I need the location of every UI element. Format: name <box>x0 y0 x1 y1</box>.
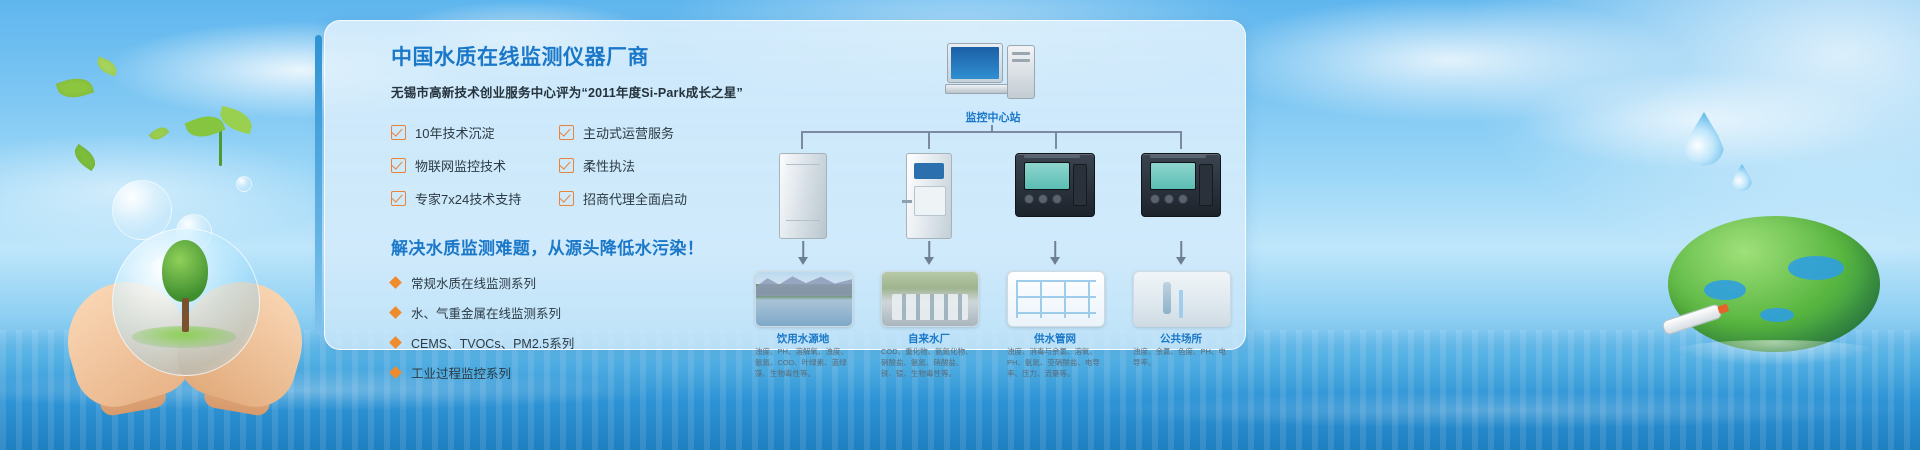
diagram-connector <box>928 131 930 149</box>
checklist-label: 10年技术沉淀 <box>415 123 494 142</box>
device-cabinet-icon <box>755 153 851 239</box>
scene-title: 公共场所 <box>1133 331 1229 346</box>
list-item-label: 水、气重金属在线监测系列 <box>411 303 561 322</box>
down-arrow-icon <box>881 241 977 267</box>
scene-title: 自来水厂 <box>881 331 977 346</box>
checkbox-icon <box>559 191 574 206</box>
checkbox-icon <box>559 158 574 173</box>
product-series-list: 常规水质在线监测系列 水、气重金属在线监测系列 CEMS、TVOCs、PM2.5… <box>391 273 741 382</box>
checklist-item: 物联网监控技术 <box>391 156 553 175</box>
monitoring-topology-diagram: 监控中心站 <box>755 35 1225 335</box>
scene-thumbnail <box>755 271 853 327</box>
checkbox-icon <box>391 158 406 173</box>
diamond-bullet-icon <box>389 366 402 379</box>
hands-holding-tree-illustration <box>60 222 310 402</box>
banner-stage: 中国水质在线监测仪器厂商 无锡市高新技术创业服务中心评为“2011年度Si-Pa… <box>0 0 1920 450</box>
checklist-item: 主动式运营服务 <box>559 123 741 142</box>
page-subtitle: 无锡市高新技术创业服务中心评为“2011年度Si-Park成长之星” <box>391 82 741 101</box>
scene-thumbnail <box>881 271 979 327</box>
device-analyzer-cabinet-icon <box>881 153 977 239</box>
list-item-label: 工业过程监控系列 <box>411 363 511 382</box>
scene-thumbnail <box>1007 271 1105 327</box>
diamond-bullet-icon <box>389 276 402 289</box>
device-controller-icon <box>1133 153 1229 239</box>
checklist-item: 招商代理全面启动 <box>559 189 741 208</box>
down-arrow-icon <box>1133 241 1229 267</box>
diagram-bus-line <box>801 131 1181 133</box>
list-item: 工业过程监控系列 <box>391 363 741 382</box>
scene-description: 浊度、余氯、色度、PH、电导率。 <box>1133 347 1229 369</box>
secondary-headline: 解决水质监测难题，从源头降低水污染！ <box>391 234 741 259</box>
checklist-label: 招商代理全面启动 <box>583 189 687 208</box>
checklist-label: 主动式运营服务 <box>583 123 674 142</box>
scene-description: 浊度、消毒与余氯、溶氧、PH、氨氮、亚硝酸盐、电导率、压力、流量等。 <box>1007 347 1103 380</box>
monitoring-center-computer-icon <box>947 43 1039 101</box>
checklist-label: 柔性执法 <box>583 156 635 175</box>
checklist-item: 专家7x24技术支持 <box>391 189 553 208</box>
page-title: 中国水质在线监测仪器厂商 <box>391 45 741 70</box>
center-station-label: 监控中心站 <box>933 109 1053 125</box>
list-item-label: 常规水质在线监测系列 <box>411 273 536 292</box>
scene-title: 饮用水源地 <box>755 331 851 346</box>
checklist-label: 专家7x24技术支持 <box>415 189 521 208</box>
checklist-item: 10年技术沉淀 <box>391 123 553 142</box>
down-arrow-icon <box>755 241 851 267</box>
diagram-connector <box>1180 131 1182 149</box>
bubble-icon <box>236 176 252 192</box>
accent-bar <box>315 35 322 335</box>
diagram-connector <box>801 131 803 149</box>
scene-description: COD、重化物、氨氮化物、硝酸盐、氨氮、硝酸盐、铁、锰、生物毒性等。 <box>881 347 977 380</box>
checklist-item: 柔性执法 <box>559 156 741 175</box>
content-panel: 中国水质在线监测仪器厂商 无锡市高新技术创业服务中心评为“2011年度Si-Pa… <box>324 20 1246 350</box>
checklist-label: 物联网监控技术 <box>415 156 506 175</box>
scene-title: 供水管网 <box>1007 331 1103 346</box>
checkbox-icon <box>559 125 574 140</box>
feature-checklist: 10年技术沉淀 主动式运营服务 物联网监控技术 柔性执法 专家7x24技术支持 <box>391 123 741 208</box>
diamond-bullet-icon <box>389 306 402 319</box>
sprout-icon <box>185 110 255 170</box>
scene-description: 浊度、PH、溶解氧、浊度、氨氮、COD、叶绿素、蓝绿藻、生物毒性等。 <box>755 347 851 380</box>
scene-thumbnail <box>1133 271 1231 327</box>
list-item: 常规水质在线监测系列 <box>391 273 741 292</box>
list-item: 水、气重金属在线监测系列 <box>391 303 741 322</box>
device-controller-icon <box>1007 153 1103 239</box>
diamond-bullet-icon <box>389 336 402 349</box>
list-item: CEMS、TVOCs、PM2.5系列 <box>391 333 741 352</box>
green-earth-illustration <box>1668 216 1880 366</box>
down-arrow-icon <box>1007 241 1103 267</box>
left-column: 中国水质在线监测仪器厂商 无锡市高新技术创业服务中心评为“2011年度Si-Pa… <box>391 45 741 382</box>
list-item-label: CEMS、TVOCs、PM2.5系列 <box>411 333 574 352</box>
diagram-connector <box>1055 131 1057 149</box>
checkbox-icon <box>391 125 406 140</box>
checkbox-icon <box>391 191 406 206</box>
